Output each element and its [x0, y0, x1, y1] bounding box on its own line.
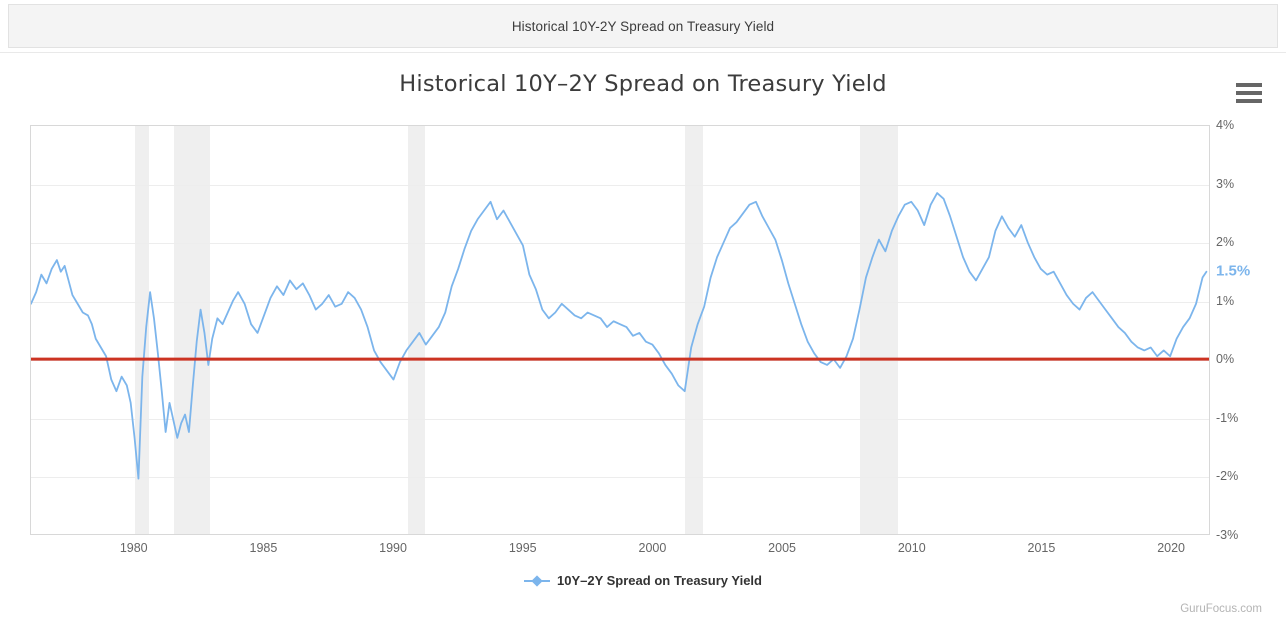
y-axis-tick-label: 4%	[1216, 118, 1234, 132]
chart-legend: 10Y–2Y Spread on Treasury Yield	[0, 573, 1286, 588]
y-axis-tick-label: -2%	[1216, 469, 1238, 483]
x-axis-tick-label: 2000	[639, 541, 667, 555]
y-axis: 4%3%2%1%0%-1%-2%-3%1.5%	[1216, 125, 1276, 535]
x-axis-tick-label: 1995	[509, 541, 537, 555]
hamburger-menu-icon[interactable]	[1234, 80, 1264, 106]
y-axis-tick-label: -3%	[1216, 528, 1238, 542]
y-axis-tick-label: 2%	[1216, 235, 1234, 249]
window-header: Historical 10Y-2Y Spread on Treasury Yie…	[8, 4, 1278, 48]
x-axis-tick-label: 2015	[1028, 541, 1056, 555]
x-axis-tick-label: 2010	[898, 541, 926, 555]
y-axis-tick-label: 0%	[1216, 352, 1234, 366]
legend-item[interactable]: 10Y–2Y Spread on Treasury Yield	[524, 573, 762, 588]
y-axis-tick-label: -1%	[1216, 411, 1238, 425]
chart-title: Historical 10Y–2Y Spread on Treasury Yie…	[0, 71, 1286, 97]
current-value-label: 1.5%	[1216, 263, 1250, 280]
x-axis-tick-label: 1980	[120, 541, 148, 555]
chart-panel: Historical 10Y–2Y Spread on Treasury Yie…	[0, 52, 1286, 634]
hamburger-bar	[1236, 83, 1262, 87]
watermark: GuruFocus.com	[1180, 603, 1262, 615]
hamburger-bar	[1236, 99, 1262, 103]
x-axis-tick-label: 1985	[250, 541, 278, 555]
x-axis-tick-label: 1990	[379, 541, 407, 555]
legend-label: 10Y–2Y Spread on Treasury Yield	[557, 573, 762, 588]
annotation-canvas	[31, 126, 1209, 534]
x-axis-tick-label: 2020	[1157, 541, 1185, 555]
window-title: Historical 10Y-2Y Spread on Treasury Yie…	[512, 19, 774, 34]
y-axis-tick-label: 1%	[1216, 294, 1234, 308]
legend-line-marker-icon	[524, 575, 550, 587]
x-axis-tick-label: 2005	[768, 541, 796, 555]
y-axis-tick-label: 3%	[1216, 177, 1234, 191]
plot-area[interactable]	[30, 125, 1210, 535]
x-axis: 198019851990199520002005201020152020	[30, 537, 1210, 561]
plot-wrapper	[30, 125, 1210, 535]
hamburger-bar	[1236, 91, 1262, 95]
